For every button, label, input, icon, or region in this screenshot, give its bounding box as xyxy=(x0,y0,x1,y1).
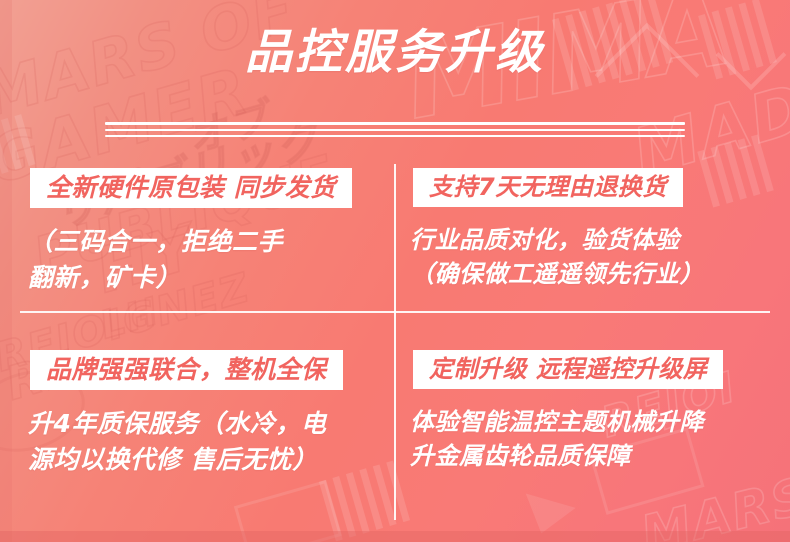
card-body-line: 源均以换代修 售后无忧） xyxy=(28,442,394,478)
card-badge-label: 品牌强强联合，整机全保 xyxy=(46,357,327,382)
card-body: 升4年质保服务（水冷，电 源均以换代修 售后无忧） xyxy=(14,406,394,477)
decor-bottom-band xyxy=(0,531,790,542)
card-body: 体验智能温控主题机械升降 升金属齿轮品质保障 xyxy=(400,405,780,473)
card-body-line: 升4年质保服务（水冷，电 xyxy=(28,406,394,442)
card-badge-label: 支持7天无理由退换货 xyxy=(429,175,667,199)
card-body: （三码合一，拒绝二手 翻新，矿卡） xyxy=(14,224,394,295)
header-rule-1 xyxy=(105,122,685,125)
banner-header: 品控服务升级 xyxy=(0,28,790,77)
grid-vertical-divider xyxy=(394,164,396,520)
grid-horizontal-divider xyxy=(20,311,770,313)
feature-card-custom-upgrade: 定制升级 远程遥控升级屏 体验智能温控主题机械升降 升金属齿轮品质保障 xyxy=(400,350,780,473)
feature-grid: 全新硬件原包装 同步发货 （三码合一，拒绝二手 翻新，矿卡） 支持7天无理由退换… xyxy=(0,160,790,528)
card-body-line: （三码合一，拒绝二手 xyxy=(28,224,394,260)
card-body-line: 翻新，矿卡） xyxy=(28,260,394,296)
card-body: 行业品质对化，验货体验 （确保做工遥遥领先行业） xyxy=(400,223,780,291)
card-badge: 支持7天无理由退换货 xyxy=(413,168,683,207)
card-badge: 全新硬件原包装 同步发货 xyxy=(30,168,352,208)
card-body-line: 行业品质对化，验货体验 xyxy=(410,223,780,257)
feature-card-hardware: 全新硬件原包装 同步发货 （三码合一，拒绝二手 翻新，矿卡） xyxy=(14,168,394,295)
promo-banner: MARS OF GAMER リパブリック PUBLIQUE REJOIGNEZ … xyxy=(0,0,790,542)
feature-card-brand-warranty: 品牌强强联合，整机全保 升4年质保服务（水冷，电 源均以换代修 售后无忧） xyxy=(14,350,394,477)
header-rule-3 xyxy=(105,135,685,137)
feature-card-return-policy: 支持7天无理由退换货 行业品质对化，验货体验 （确保做工遥遥领先行业） xyxy=(400,168,780,291)
card-badge-label: 定制升级 远程遥控升级屏 xyxy=(429,357,707,381)
card-badge: 定制升级 远程遥控升级屏 xyxy=(413,350,723,389)
card-badge-label: 全新硬件原包装 同步发货 xyxy=(46,175,336,200)
page-title: 品控服务升级 xyxy=(245,28,545,77)
card-body-line: （确保做工遥遥领先行业） xyxy=(410,257,780,291)
card-body-line: 升金属齿轮品质保障 xyxy=(410,439,780,473)
header-rule-2 xyxy=(105,129,685,131)
header-divider-rules xyxy=(105,122,685,137)
card-body-line: 体验智能温控主题机械升降 xyxy=(410,405,780,439)
card-badge: 品牌强强联合，整机全保 xyxy=(30,350,343,390)
